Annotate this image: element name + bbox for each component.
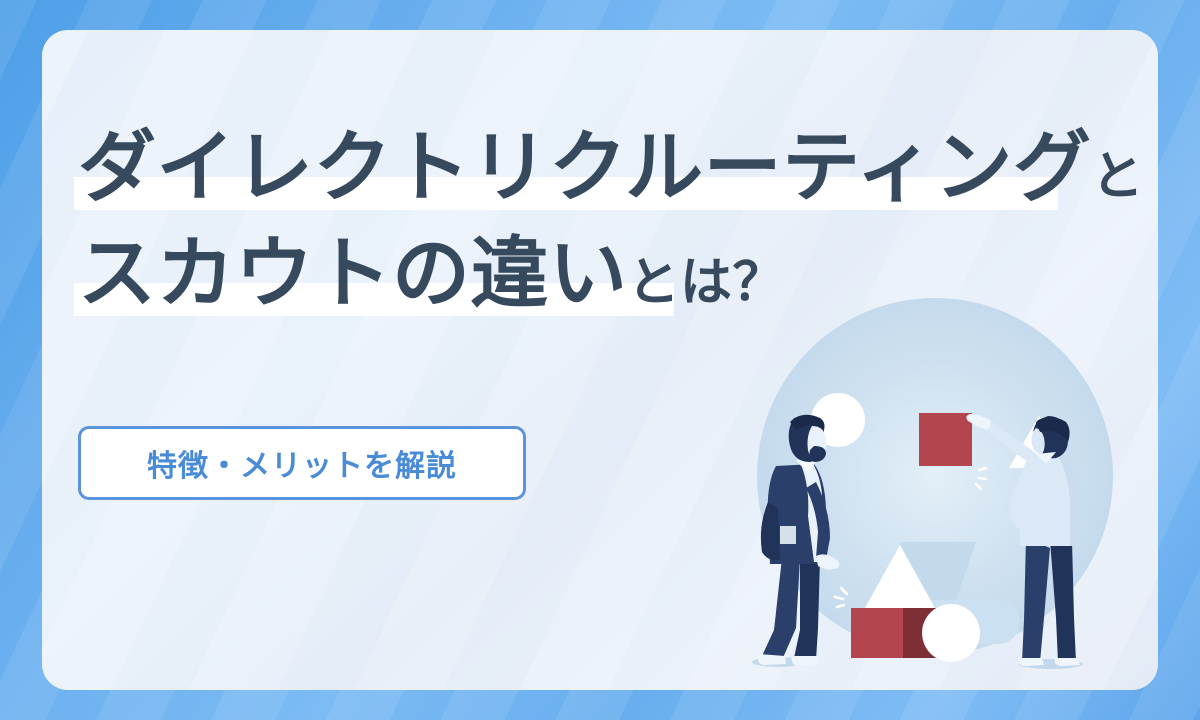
- title-line-2-main: スカウトの違い: [78, 229, 628, 317]
- illustration: [738, 270, 1158, 690]
- red-square: [919, 413, 972, 466]
- title-line-1: ダイレクトリクルーティングと: [78, 128, 1138, 206]
- subtitle-badge-label: 特徴・メリットを解説: [147, 441, 457, 485]
- subtitle-badge: 特徴・メリットを解説: [78, 426, 526, 500]
- left-figure-back-leg: [762, 558, 800, 660]
- white-circle-bottom: [922, 604, 980, 662]
- title-line-1-main: ダイレクトリクルーティング: [78, 123, 1091, 211]
- banner-root: ダイレクトリクルーティングと スカウトの違いとは？ 特徴・メリットを解説: [0, 0, 1200, 720]
- title-line-1-suffix: と: [1091, 148, 1144, 206]
- content-card: ダイレクトリクルーティングと スカウトの違いとは？ 特徴・メリットを解説: [42, 30, 1158, 690]
- illustration-svg: [738, 270, 1158, 690]
- title-line-2-suffix: とは？: [628, 254, 786, 312]
